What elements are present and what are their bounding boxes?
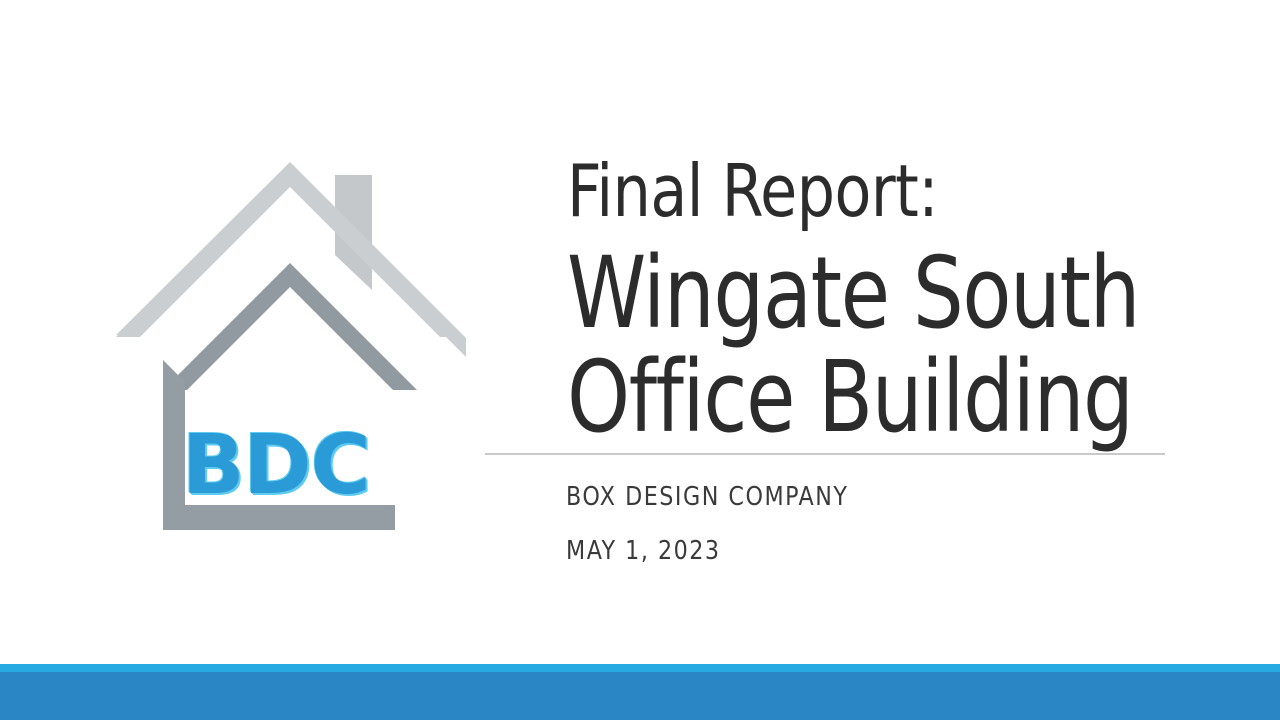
title-slide: BDC Final Report: Wingate South Office B…: [0, 0, 1280, 720]
title-line-subject-1: Wingate South: [567, 242, 1125, 346]
footer-band: [0, 672, 1280, 720]
roof-inner-chevron: [163, 263, 417, 390]
slide-title: Final Report: Wingate South Office Build…: [567, 140, 1187, 450]
title-divider-rule: [485, 453, 1165, 455]
subtitle-date: MAY 1, 2023: [566, 524, 1155, 578]
bdc-wordmark: BDC: [182, 425, 370, 507]
subtitle-organization: BOX DESIGN COMPANY: [566, 470, 1155, 524]
slide-subtitle: BOX DESIGN COMPANY MAY 1, 2023: [566, 470, 1186, 578]
footer-accent-strip: [0, 664, 1280, 672]
title-line-subject-2: Office Building: [567, 346, 1125, 450]
roof-outer-chevron: [116, 163, 464, 337]
bdc-house-logo: BDC: [110, 155, 475, 540]
title-line-primary: Final Report:: [567, 140, 1144, 242]
